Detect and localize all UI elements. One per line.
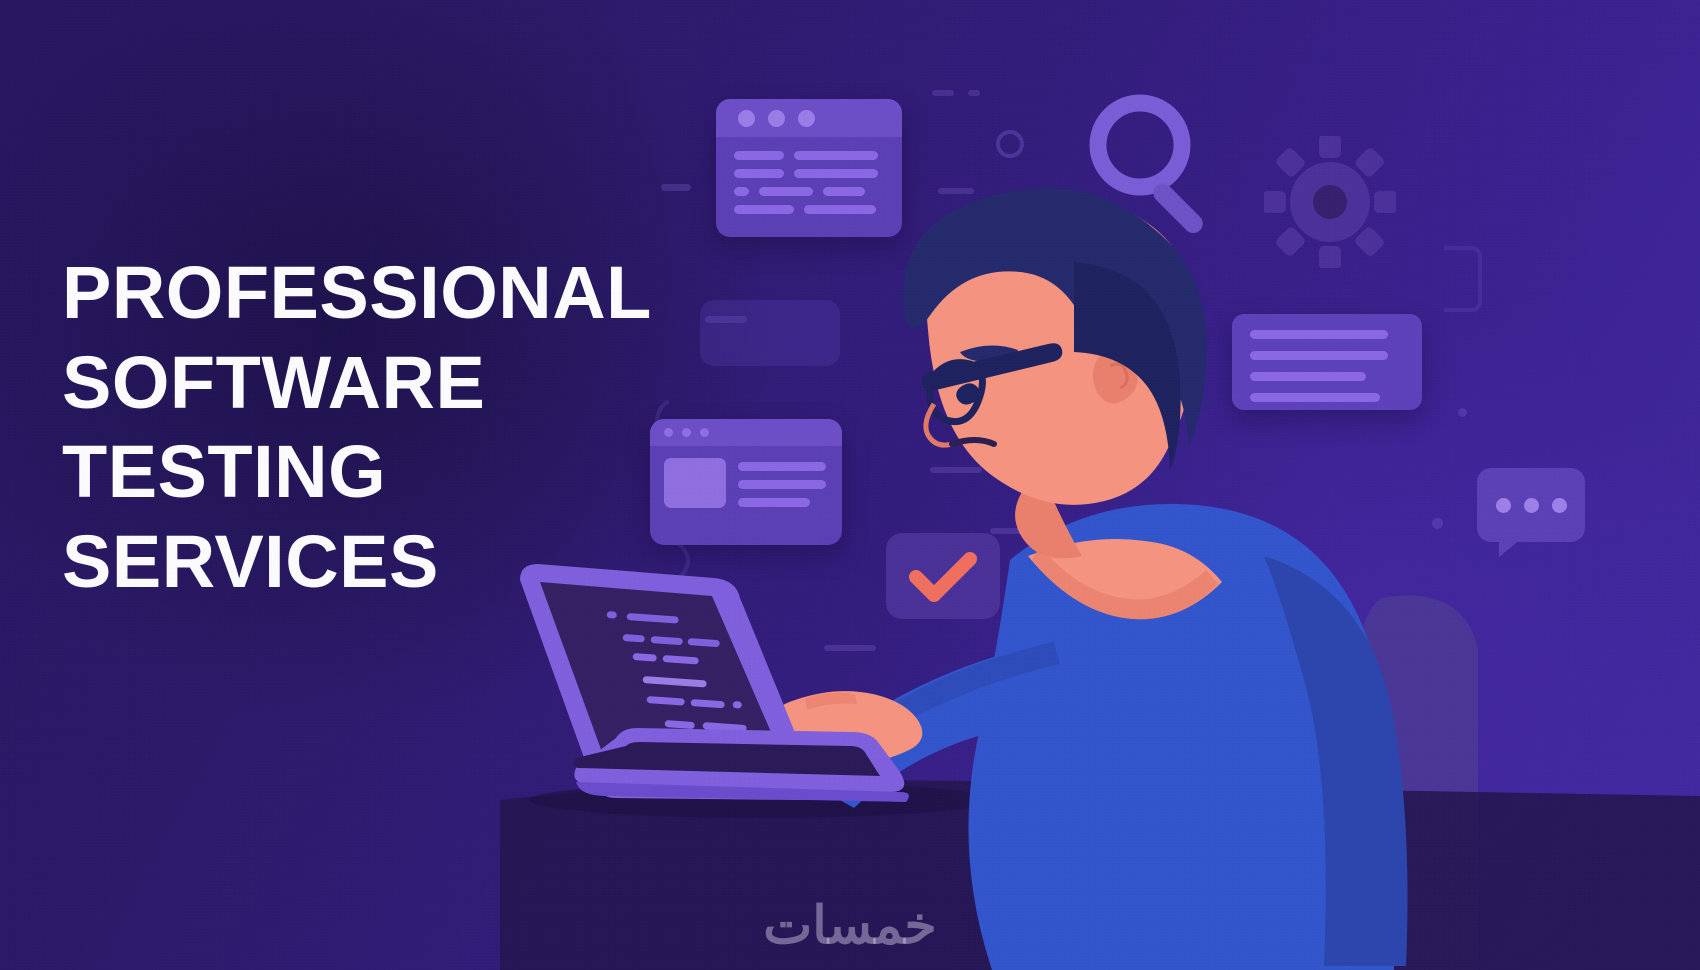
headline-line-4: Services: [62, 517, 722, 607]
headline-line-2: Software: [62, 338, 722, 428]
headline-line-1: Professional: [62, 248, 722, 338]
page-title: Professional Software Testing Services: [62, 248, 722, 606]
poster-canvas: Professional Software Testing Services خ…: [0, 0, 1700, 970]
watermark: خمسات: [0, 896, 1700, 956]
headline-line-3: Testing: [62, 427, 722, 517]
